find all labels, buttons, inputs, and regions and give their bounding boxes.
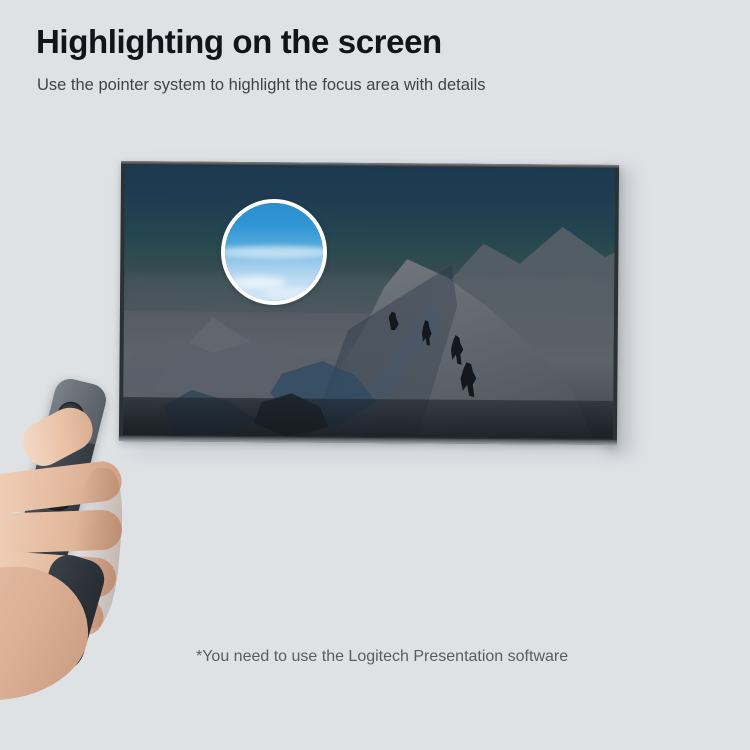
software-requirement-note: *You need to use the Logitech Presentati… — [196, 648, 568, 666]
hand-holding-remote — [0, 372, 260, 672]
page-subtitle: Use the pointer system to highlight the … — [37, 76, 486, 95]
product-feature-slide: Highlighting on the screen Use the point… — [0, 0, 750, 750]
pointer-highlight-circle — [221, 199, 327, 305]
highlight-cloud — [221, 246, 327, 258]
highlight-cloud — [264, 287, 317, 299]
page-title: Highlighting on the screen — [36, 23, 442, 61]
